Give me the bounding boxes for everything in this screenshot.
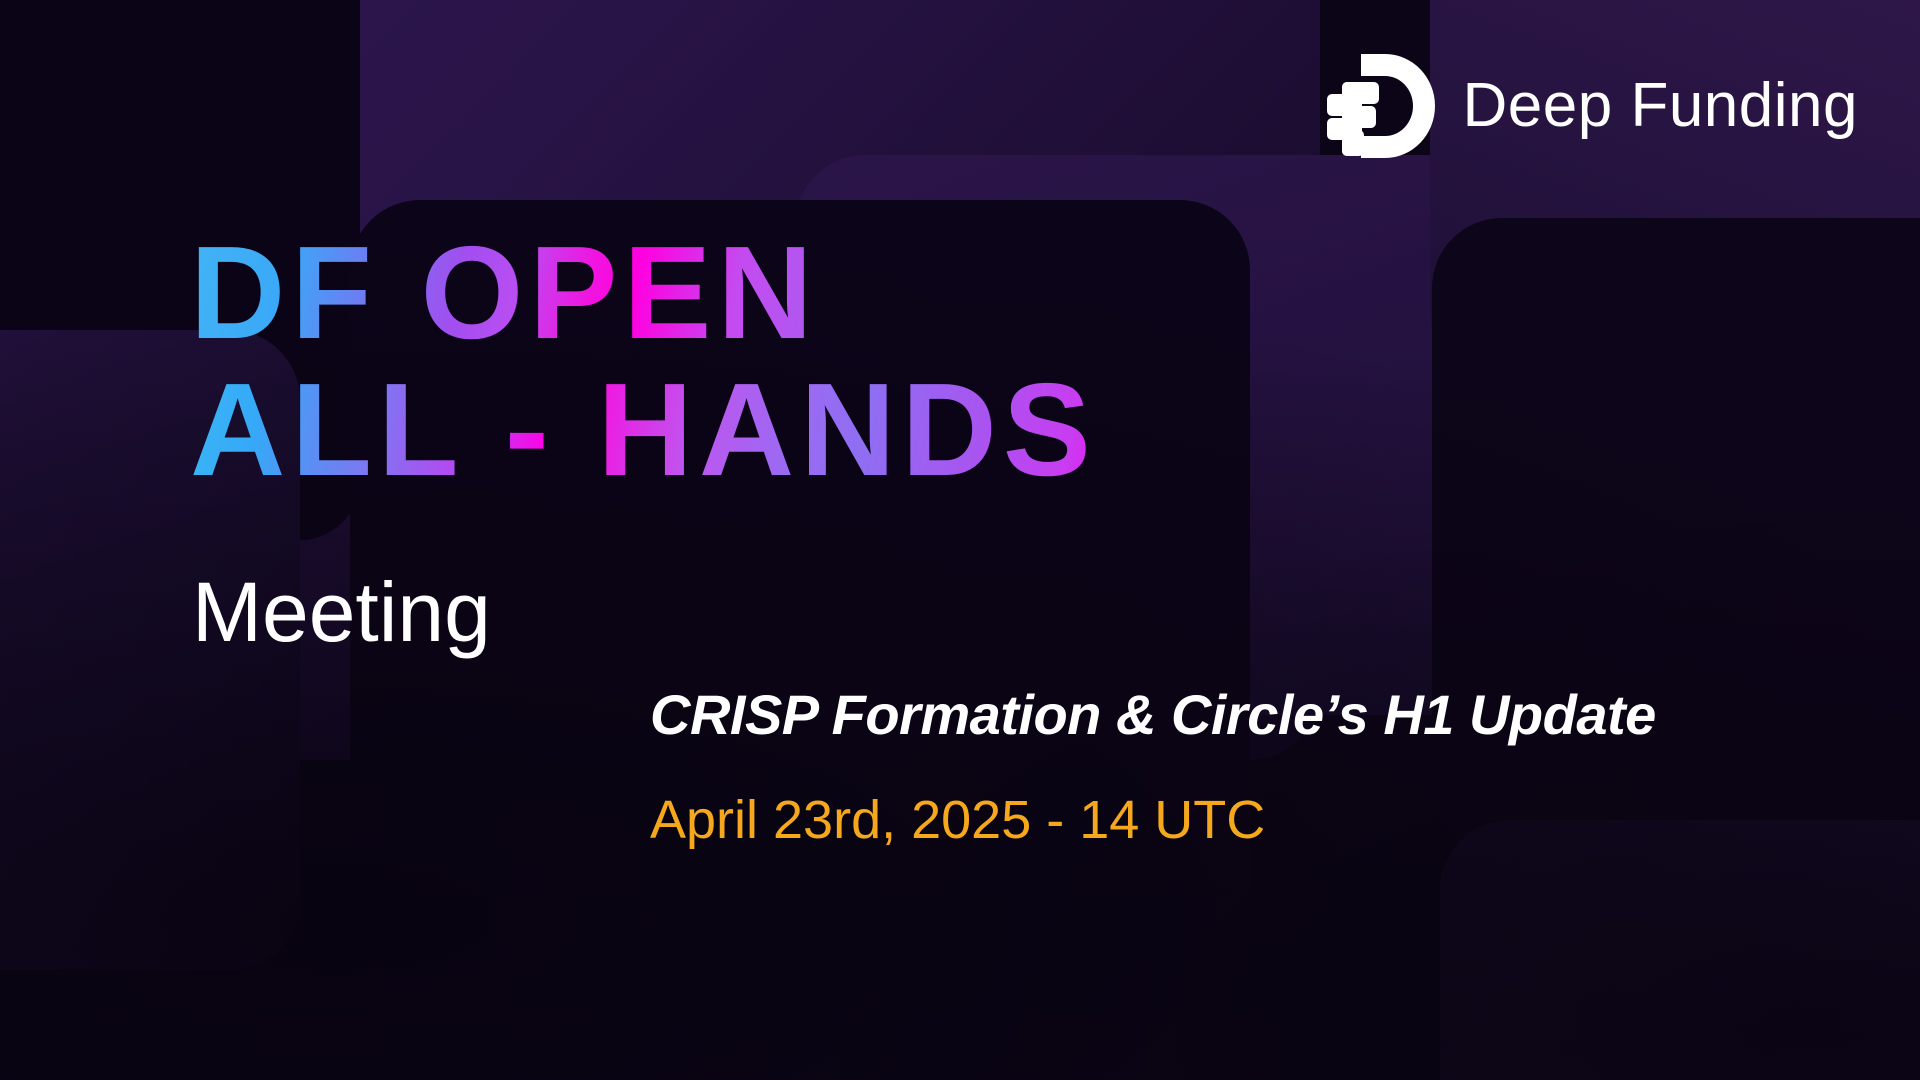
headline-subtitle: Meeting bbox=[192, 570, 491, 654]
headline-line-2: ALL - HANDS bbox=[190, 369, 1097, 492]
page-title: DF OPEN ALL - HANDS bbox=[190, 232, 1097, 492]
brand-name: Deep Funding bbox=[1463, 75, 1859, 137]
slide-canvas: Deep Funding DF OPEN ALL - HANDS Meeting… bbox=[0, 0, 1920, 1080]
brand-logo: Deep Funding bbox=[1321, 50, 1859, 162]
session-date: April 23rd, 2025 - 14 UTC bbox=[650, 793, 1700, 847]
headline-line-1: DF OPEN bbox=[190, 232, 1097, 355]
bg-shape-bottom-right-panel bbox=[1440, 820, 1920, 1080]
deep-funding-d-mark-icon bbox=[1321, 50, 1439, 162]
session-details: CRISP Formation & Circle’s H1 Update Apr… bbox=[650, 680, 1700, 847]
background-decoration bbox=[0, 0, 1920, 1080]
session-title: CRISP Formation & Circle’s H1 Update bbox=[650, 680, 1700, 751]
